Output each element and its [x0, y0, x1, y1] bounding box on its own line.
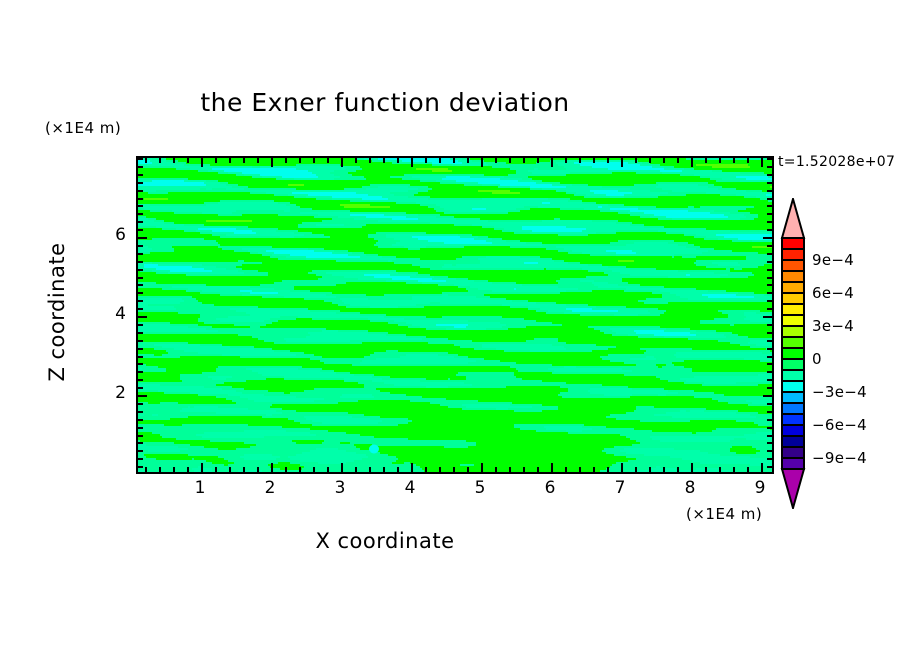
x-tick-top-minor	[327, 158, 329, 163]
x-tick-label: 9	[745, 478, 775, 498]
x-tick-major	[271, 463, 273, 472]
x-tick-top-major	[481, 158, 483, 167]
y-tick-right-minor	[767, 371, 772, 373]
y-tick-label: 2	[106, 383, 126, 403]
x-tick-major	[201, 463, 203, 472]
y-tick-minor	[138, 363, 143, 365]
x-tick-minor	[313, 467, 315, 472]
x-tick-minor	[355, 467, 357, 472]
x-tick-top-minor	[733, 158, 735, 163]
y-tick-minor	[138, 182, 143, 184]
y-tick-minor	[138, 340, 143, 342]
x-tick-top-minor	[677, 158, 679, 163]
y-tick-right-minor	[767, 213, 772, 215]
x-tick-major	[691, 463, 693, 472]
y-tick-right-minor	[767, 442, 772, 444]
x-tick-top-major	[621, 158, 623, 167]
x-tick-minor	[705, 467, 707, 472]
x-tick-major	[761, 463, 763, 472]
x-tick-minor	[173, 467, 175, 472]
x-tick-top-major	[551, 158, 553, 167]
x-tick-top-minor	[607, 158, 609, 163]
x-tick-minor	[495, 467, 497, 472]
x-tick-minor	[649, 467, 651, 472]
x-tick-label: 3	[325, 478, 355, 498]
y-tick-right-minor	[767, 324, 772, 326]
y-tick-right-major	[763, 316, 772, 318]
colorbar-tick-label: 9e−4	[812, 251, 854, 269]
y-tick-minor	[138, 166, 143, 168]
x-tick-top-minor	[467, 158, 469, 163]
colorbar-tick-label: 0	[812, 350, 822, 368]
x-tick-minor	[719, 467, 721, 472]
y-tick-right-minor	[767, 466, 772, 468]
colorbar-tick-label: 3e−4	[812, 317, 854, 335]
x-tick-minor	[439, 467, 441, 472]
x-tick-minor	[733, 467, 735, 472]
x-tick-top-minor	[313, 158, 315, 163]
x-tick-label: 2	[255, 478, 285, 498]
y-tick-right-minor	[767, 253, 772, 255]
x-tick-label: 7	[605, 478, 635, 498]
y-tick-minor	[138, 284, 143, 286]
x-tick-top-major	[761, 158, 763, 167]
y-tick-right-minor	[767, 348, 772, 350]
x-tick-minor	[327, 467, 329, 472]
x-tick-minor	[565, 467, 567, 472]
x-tick-minor	[145, 467, 147, 472]
x-tick-top-minor	[173, 158, 175, 163]
y-tick-minor	[138, 253, 143, 255]
y-tick-minor	[138, 158, 143, 160]
y-tick-minor	[138, 300, 143, 302]
x-tick-minor	[425, 467, 427, 472]
x-tick-top-minor	[369, 158, 371, 163]
y-tick-minor	[138, 292, 143, 294]
y-tick-minor	[138, 411, 143, 413]
x-tick-top-minor	[747, 158, 749, 163]
y-tick-right-minor	[767, 174, 772, 176]
x-tick-top-minor	[635, 158, 637, 163]
x-tick-top-major	[271, 158, 273, 167]
y-tick-right-minor	[767, 229, 772, 231]
x-tick-major	[621, 463, 623, 472]
x-tick-top-minor	[565, 158, 567, 163]
y-axis-title: Z coordinate	[45, 222, 69, 402]
figure-canvas: the Exner function deviation (×1E4 m) (×…	[0, 0, 904, 654]
colorbar-tick-label: 6e−4	[812, 284, 854, 302]
x-tick-top-minor	[649, 158, 651, 163]
x-tick-top-minor	[593, 158, 595, 163]
x-tick-minor	[537, 467, 539, 472]
y-tick-minor	[138, 205, 143, 207]
y-tick-right-minor	[767, 205, 772, 207]
x-tick-minor	[229, 467, 231, 472]
y-tick-major	[138, 395, 147, 397]
y-axis-unit-label: (×1E4 m)	[45, 119, 121, 137]
y-tick-minor	[138, 387, 143, 389]
x-tick-minor	[453, 467, 455, 472]
x-tick-top-minor	[383, 158, 385, 163]
y-tick-right-minor	[767, 435, 772, 437]
x-tick-major	[481, 463, 483, 472]
x-tick-minor	[607, 467, 609, 472]
y-tick-label: 6	[106, 225, 126, 245]
x-tick-minor	[397, 467, 399, 472]
y-tick-minor	[138, 356, 143, 358]
x-tick-minor	[243, 467, 245, 472]
y-tick-minor	[138, 371, 143, 373]
y-tick-right-minor	[767, 332, 772, 334]
y-tick-minor	[138, 245, 143, 247]
y-tick-right-minor	[767, 403, 772, 405]
x-tick-top-minor	[537, 158, 539, 163]
y-tick-right-minor	[767, 292, 772, 294]
y-tick-right-minor	[767, 269, 772, 271]
x-tick-minor	[467, 467, 469, 472]
y-tick-right-minor	[767, 419, 772, 421]
y-tick-minor	[138, 419, 143, 421]
plot-area	[136, 156, 774, 474]
x-tick-top-minor	[523, 158, 525, 163]
y-tick-right-minor	[767, 450, 772, 452]
colorbar-tick-label: −9e−4	[812, 449, 867, 467]
y-tick-right-minor	[767, 261, 772, 263]
y-tick-major	[138, 237, 147, 239]
y-tick-label: 4	[106, 304, 126, 324]
y-tick-minor	[138, 379, 143, 381]
x-tick-minor	[523, 467, 525, 472]
x-tick-minor	[257, 467, 259, 472]
y-tick-minor	[138, 403, 143, 405]
x-tick-top-minor	[579, 158, 581, 163]
y-tick-minor	[138, 269, 143, 271]
y-tick-right-minor	[767, 190, 772, 192]
x-tick-minor	[369, 467, 371, 472]
x-tick-top-minor	[397, 158, 399, 163]
y-tick-minor	[138, 458, 143, 460]
colorbar-swatches	[778, 198, 808, 509]
x-tick-minor	[383, 467, 385, 472]
y-tick-minor	[138, 213, 143, 215]
y-tick-right-minor	[767, 458, 772, 460]
x-tick-top-major	[341, 158, 343, 167]
x-tick-top-minor	[187, 158, 189, 163]
y-tick-minor	[138, 221, 143, 223]
x-tick-top-minor	[257, 158, 259, 163]
x-tick-minor	[593, 467, 595, 472]
colorbar-tick-label: −3e−4	[812, 383, 867, 401]
x-tick-major	[551, 463, 553, 472]
colorbar-tick-label: −6e−4	[812, 416, 867, 434]
y-tick-minor	[138, 308, 143, 310]
y-tick-right-minor	[767, 427, 772, 429]
x-tick-label: 4	[395, 478, 425, 498]
x-tick-major	[411, 463, 413, 472]
x-tick-top-minor	[705, 158, 707, 163]
x-tick-top-minor	[229, 158, 231, 163]
y-tick-right-minor	[767, 158, 772, 160]
timestamp-annotation: t=1.52028e+07	[778, 154, 895, 170]
x-axis-unit-label: (×1E4 m)	[686, 505, 762, 523]
x-tick-minor	[159, 467, 161, 472]
y-tick-right-minor	[767, 411, 772, 413]
y-tick-minor	[138, 277, 143, 279]
x-tick-top-major	[201, 158, 203, 167]
x-tick-minor	[215, 467, 217, 472]
y-tick-right-minor	[767, 379, 772, 381]
y-tick-right-minor	[767, 356, 772, 358]
y-tick-right-minor	[767, 245, 772, 247]
x-tick-minor	[663, 467, 665, 472]
colorbar	[778, 198, 808, 518]
x-tick-minor	[299, 467, 301, 472]
x-tick-top-minor	[495, 158, 497, 163]
y-tick-right-minor	[767, 300, 772, 302]
x-tick-minor	[285, 467, 287, 472]
x-tick-top-minor	[215, 158, 217, 163]
x-tick-top-minor	[285, 158, 287, 163]
y-tick-right-minor	[767, 182, 772, 184]
x-tick-label: 5	[465, 478, 495, 498]
x-tick-top-minor	[663, 158, 665, 163]
y-tick-right-major	[763, 237, 772, 239]
x-tick-minor	[509, 467, 511, 472]
x-tick-top-minor	[453, 158, 455, 163]
x-tick-label: 8	[675, 478, 705, 498]
y-tick-right-minor	[767, 340, 772, 342]
x-tick-minor	[187, 467, 189, 472]
y-tick-major	[138, 316, 147, 318]
y-tick-right-minor	[767, 166, 772, 168]
x-tick-minor	[677, 467, 679, 472]
y-tick-minor	[138, 190, 143, 192]
y-tick-minor	[138, 332, 143, 334]
x-tick-top-minor	[439, 158, 441, 163]
y-tick-right-minor	[767, 308, 772, 310]
x-tick-minor	[579, 467, 581, 472]
y-tick-minor	[138, 324, 143, 326]
x-tick-minor	[747, 467, 749, 472]
x-tick-top-minor	[355, 158, 357, 163]
x-axis-title: X coordinate	[0, 529, 770, 553]
y-tick-minor	[138, 348, 143, 350]
y-tick-minor	[138, 466, 143, 468]
y-tick-right-minor	[767, 284, 772, 286]
contour-field	[138, 158, 772, 472]
y-tick-right-minor	[767, 277, 772, 279]
x-tick-top-minor	[299, 158, 301, 163]
y-tick-minor	[138, 261, 143, 263]
y-tick-minor	[138, 435, 143, 437]
x-tick-top-minor	[243, 158, 245, 163]
x-tick-label: 6	[535, 478, 565, 498]
y-tick-minor	[138, 229, 143, 231]
y-tick-minor	[138, 442, 143, 444]
y-tick-minor	[138, 198, 143, 200]
y-tick-right-minor	[767, 198, 772, 200]
x-tick-top-minor	[509, 158, 511, 163]
x-tick-major	[341, 463, 343, 472]
y-tick-right-minor	[767, 363, 772, 365]
y-tick-minor	[138, 427, 143, 429]
x-tick-top-major	[691, 158, 693, 167]
y-tick-right-minor	[767, 387, 772, 389]
page-title: the Exner function deviation	[0, 88, 770, 117]
x-tick-top-minor	[425, 158, 427, 163]
x-tick-top-minor	[145, 158, 147, 163]
x-tick-top-major	[411, 158, 413, 167]
y-tick-minor	[138, 174, 143, 176]
x-tick-top-minor	[159, 158, 161, 163]
y-tick-right-minor	[767, 221, 772, 223]
x-tick-label: 1	[185, 478, 215, 498]
y-tick-minor	[138, 450, 143, 452]
x-tick-top-minor	[719, 158, 721, 163]
x-tick-minor	[635, 467, 637, 472]
y-tick-right-major	[763, 395, 772, 397]
